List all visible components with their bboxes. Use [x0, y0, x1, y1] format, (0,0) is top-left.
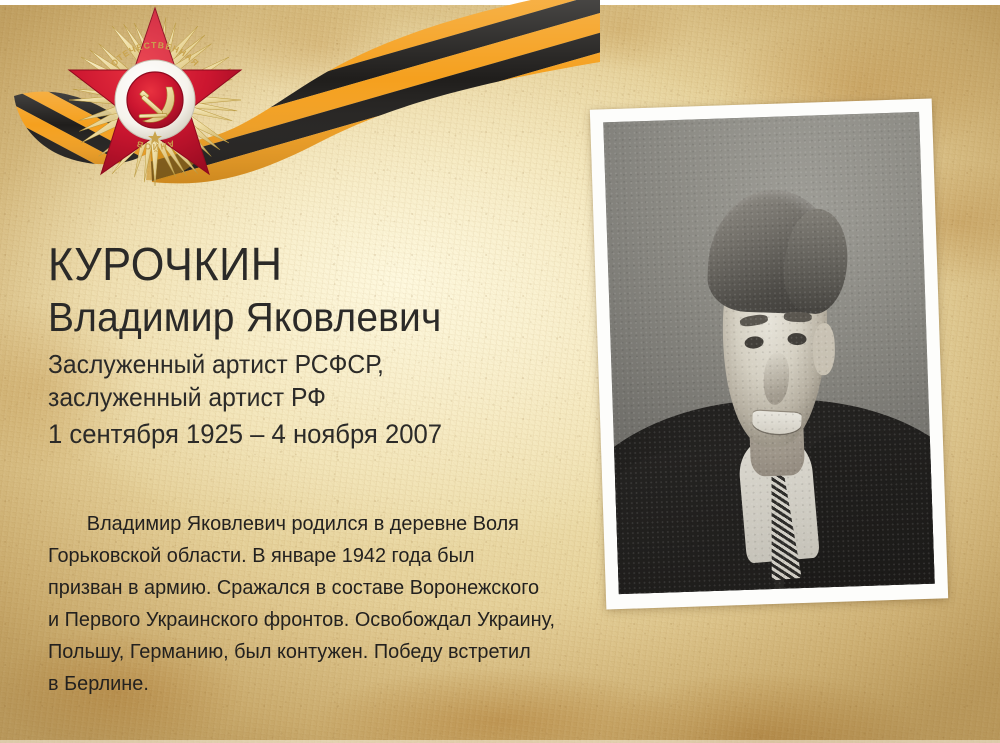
surname: КУРОЧКИН — [48, 238, 556, 290]
biography-line: в Берлине. — [48, 668, 572, 700]
biography-heading-block: КУРОЧКИН Владимир Яковлевич Заслуженный … — [48, 238, 588, 451]
memorial-poster: ОТЕЧЕСТВЕННАЯ АНЙОВ — [0, 0, 1000, 743]
biography-line: Горьковской области. В январе 1942 года … — [48, 540, 572, 572]
portrait-photo — [603, 112, 934, 594]
photo-sepia-tone — [603, 112, 934, 594]
biography-line: Польшу, Германию, был контужен. Победу в… — [48, 636, 572, 668]
honorary-title-line-1: Заслуженный артист РСФСР, — [48, 348, 561, 381]
given-name: Владимир Яковлевич — [48, 292, 561, 342]
biography-line: и Первого Украинского фронтов. Освобожда… — [48, 604, 572, 636]
portrait-photo-frame — [590, 98, 948, 609]
order-of-the-patriotic-war-medal: ОТЕЧЕСТВЕННАЯ АНЙОВ — [60, 5, 250, 190]
biography-text: Владимир Яковлевич родился в деревне Вол… — [48, 508, 572, 700]
honorary-title-line-2: заслуженный артист РФ — [48, 381, 561, 414]
life-dates: 1 сентября 1925 – 4 ноября 2007 — [48, 417, 561, 451]
biography-line: призван в армию. Сражался в составе Воро… — [48, 572, 572, 604]
biography-line: Владимир Яковлевич родился в деревне Вол… — [48, 508, 572, 540]
honorary-titles: Заслуженный артист РСФСР, заслуженный ар… — [48, 348, 561, 414]
